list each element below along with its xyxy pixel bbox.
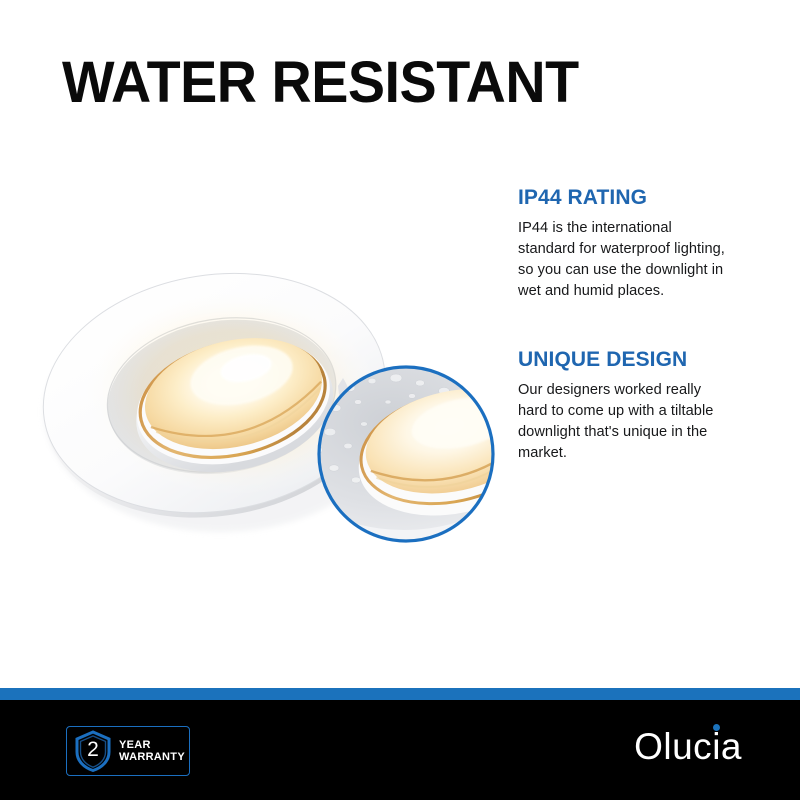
warranty-label-line1: YEAR bbox=[119, 739, 151, 751]
feature-body-ip44: IP44 is the international standard for w… bbox=[518, 218, 726, 302]
brand-text-before: Oluc bbox=[634, 726, 712, 767]
footer-accent-bar bbox=[0, 688, 800, 700]
shield-icon: 2 bbox=[74, 730, 112, 772]
feature-body-unique-design: Our designers worked really hard to come… bbox=[518, 380, 726, 464]
brand-text-after: a bbox=[721, 726, 742, 767]
feature-title-unique-design: UNIQUE DESIGN bbox=[518, 348, 726, 372]
brand-letter-i-glyph: i bbox=[712, 726, 721, 767]
brand-logo: Olucia bbox=[634, 725, 742, 769]
downlight-illustration bbox=[0, 150, 520, 570]
feature-section-unique-design: UNIQUE DESIGN Our designers worked reall… bbox=[518, 348, 726, 464]
warranty-label-line2: WARRANTY bbox=[119, 751, 185, 763]
page-title: WATER RESISTANT bbox=[62, 52, 579, 114]
warranty-years: 2 bbox=[74, 730, 112, 772]
warranty-badge: 2 YEAR WARRANTY bbox=[66, 726, 190, 776]
brand-dot-icon bbox=[713, 724, 720, 731]
brand-letter-i: i bbox=[712, 725, 721, 769]
feature-section-ip44: IP44 RATING IP44 is the international st… bbox=[518, 186, 726, 302]
warranty-label: YEAR WARRANTY bbox=[119, 739, 185, 764]
product-photo bbox=[0, 150, 520, 570]
feature-title-ip44: IP44 RATING bbox=[518, 186, 726, 210]
marketing-banner: WATER RESISTANT bbox=[0, 0, 800, 800]
